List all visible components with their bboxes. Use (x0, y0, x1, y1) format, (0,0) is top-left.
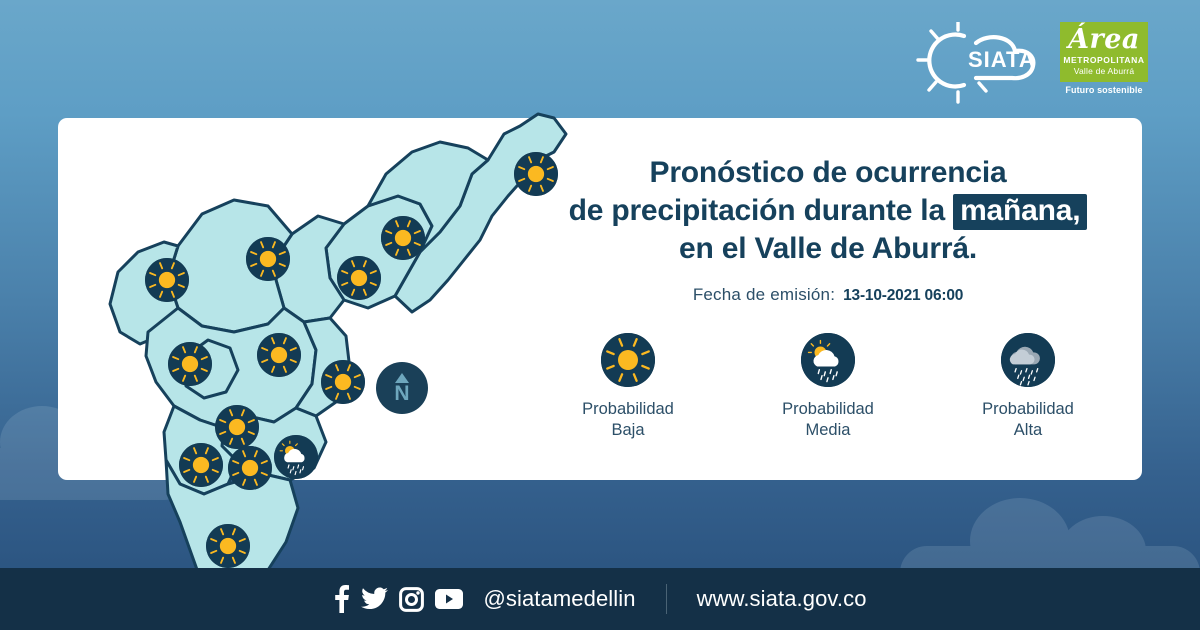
issue-date-label: Fecha de emisión: (693, 285, 835, 305)
sun-icon (206, 524, 250, 568)
probability-legend: ProbabilidadBaja ProbabilidadMedia Proba… (528, 333, 1128, 441)
map-marker-baja (257, 333, 301, 377)
map-marker-baja (337, 256, 381, 300)
sun-icon (321, 360, 365, 404)
instagram-icon[interactable] (399, 587, 424, 612)
sun-cloud-rain-icon (274, 435, 318, 479)
area-metropolitana-logo: Área METROPOLITANA Valle de Aburrá Futur… (1060, 22, 1148, 95)
legend-label-line2: Alta (943, 420, 1113, 441)
sun-icon (168, 342, 212, 386)
website-url[interactable]: www.siata.gov.co (697, 586, 867, 612)
valle-de-aburra-map: N (68, 56, 548, 536)
compass-label: N (394, 384, 409, 403)
map-marker-baja (206, 524, 250, 568)
title-highlight: mañana, (953, 194, 1087, 230)
page-title: Pronóstico de ocurrencia de precipitació… (528, 154, 1128, 268)
logo-group: SIATA Área METROPOLITANA Valle de Aburrá… (916, 22, 1148, 106)
legend-label-line2: Baja (543, 420, 713, 441)
social-icons (333, 585, 463, 613)
issue-date: Fecha de emisión: 13-10-2021 06:00 (528, 285, 1128, 305)
sun-icon (257, 333, 301, 377)
map-marker-baja (246, 237, 290, 281)
title-line-2: de precipitación durante la mañana, (528, 192, 1128, 230)
sun-icon (228, 446, 272, 490)
content-panel: N Pronóstico de ocurrencia de precipitac… (58, 118, 1142, 480)
legend-item-baja: ProbabilidadBaja (543, 333, 713, 441)
map-marker-baja (168, 342, 212, 386)
legend-label-line1: Probabilidad (743, 399, 913, 420)
sun-icon (337, 256, 381, 300)
area-logo-line2: Valle de Aburrá (1060, 66, 1148, 76)
title-line-3: en el Valle de Aburrá. (528, 230, 1128, 268)
map-marker-baja (228, 446, 272, 490)
sun-icon (145, 258, 189, 302)
issue-date-value: 13-10-2021 06:00 (843, 287, 963, 305)
legend-label-line1: Probabilidad (543, 399, 713, 420)
legend-item-label: ProbabilidadMedia (743, 399, 913, 441)
sun-cloud-rain-icon (801, 333, 855, 387)
legend-item-alta: ProbabilidadAlta (943, 333, 1113, 441)
legend-item-media: ProbabilidadMedia (743, 333, 913, 441)
area-logo-line1: METROPOLITANA (1060, 56, 1148, 66)
youtube-icon[interactable] (435, 589, 463, 609)
sun-icon (381, 216, 425, 260)
area-logo-badge: Área METROPOLITANA Valle de Aburrá (1060, 22, 1148, 82)
svg-text:SIATA: SIATA (968, 47, 1036, 72)
legend-item-label: ProbabilidadBaja (543, 399, 713, 441)
map-marker-baja (321, 360, 365, 404)
legend-item-label: ProbabilidadAlta (943, 399, 1113, 441)
map-marker-baja (381, 216, 425, 260)
map-marker-media (274, 435, 318, 479)
area-logo-script: Área (1060, 25, 1148, 55)
sun-icon (246, 237, 290, 281)
compass-north-icon: N (376, 362, 428, 414)
legend-label-line2: Media (743, 420, 913, 441)
cloud-rain-icon (1001, 333, 1055, 387)
legend-label-line1: Probabilidad (943, 399, 1113, 420)
footer-bar: @siatamedellin www.siata.gov.co (0, 568, 1200, 630)
area-logo-tagline: Futuro sostenible (1060, 85, 1148, 95)
sun-icon (179, 443, 223, 487)
title-line-1: Pronóstico de ocurrencia (528, 154, 1128, 192)
headline-block: Pronóstico de ocurrencia de precipitació… (528, 154, 1128, 305)
title-line-2-text: de precipitación durante la (569, 194, 945, 227)
footer-divider (666, 584, 667, 614)
map-marker-baja (145, 258, 189, 302)
infographic-canvas: SIATA Área METROPOLITANA Valle de Aburrá… (0, 0, 1200, 630)
facebook-icon[interactable] (333, 585, 350, 613)
siata-logo: SIATA (916, 22, 1046, 106)
map-marker-baja (179, 443, 223, 487)
social-handle[interactable]: @siatamedellin (483, 586, 635, 612)
sun-icon (601, 333, 655, 387)
twitter-icon[interactable] (361, 587, 388, 611)
